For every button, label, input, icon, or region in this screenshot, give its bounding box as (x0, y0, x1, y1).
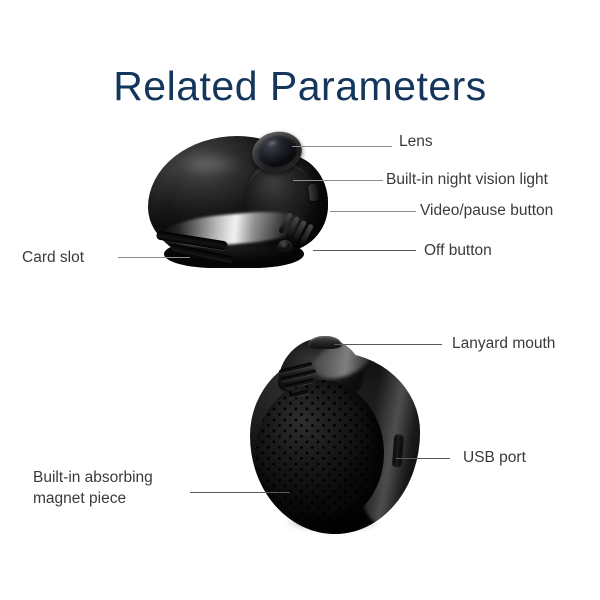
top-device-illustration (148, 128, 328, 278)
leader-line-magnet-piece (190, 492, 290, 493)
back-contact-shadow (268, 514, 398, 536)
lanyard-mouth-part[interactable] (308, 336, 342, 349)
callout-label-video-pause: Video/pause button (420, 201, 553, 220)
video-pause-button-part[interactable] (308, 184, 319, 202)
leader-line-lanyard-mouth (334, 344, 442, 345)
callout-label-lens: Lens (399, 132, 433, 151)
diagram-canvas: Related Parameters Lens Built-in night v… (0, 0, 600, 600)
page-title: Related Parameters (0, 66, 600, 107)
callout-label-magnet-piece: Built-in absorbing magnet piece (33, 467, 203, 509)
callout-label-card-slot: Card slot (22, 248, 84, 267)
callout-label-night-vision: Built-in night vision light (386, 170, 548, 189)
magnet-perforated-disc (256, 380, 384, 526)
bottom-device-illustration (250, 338, 430, 538)
leader-line-usb-port (396, 458, 450, 459)
leader-line-card-slot (118, 257, 190, 258)
leader-line-off-button (313, 250, 416, 251)
magnet-label-line-2: magnet piece (33, 490, 126, 507)
leader-line-lens (292, 146, 392, 147)
callout-label-off-button: Off button (424, 241, 492, 260)
magnet-label-line-1: Built-in absorbing (33, 469, 153, 486)
leader-line-video-pause (330, 211, 416, 212)
leader-line-night-vision (293, 180, 383, 181)
callout-label-usb-port: USB port (463, 448, 526, 467)
callout-label-lanyard-mouth: Lanyard mouth (452, 334, 555, 353)
off-button-part[interactable] (278, 240, 292, 252)
